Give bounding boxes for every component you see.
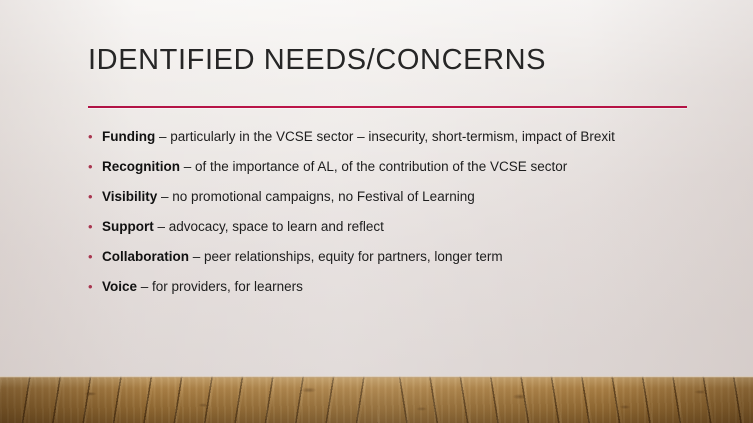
list-item-detail: – peer relationships, equity for partner… (189, 249, 503, 264)
slide-title: Identified needs/concerns (88, 42, 708, 78)
bullet-dot-icon: • (88, 156, 102, 178)
list-item-text: Visibility – no promotional campaigns, n… (102, 186, 475, 208)
list-item: • Support – advocacy, space to learn and… (88, 216, 708, 246)
list-item-text: Voice – for providers, for learners (102, 276, 303, 298)
list-item-term: Visibility (102, 189, 157, 204)
list-item-detail: – of the importance of AL, of the contri… (180, 159, 567, 174)
list-item: • Funding – particularly in the VCSE sec… (88, 126, 708, 156)
presentation-slide: Identified needs/concerns • Funding – pa… (0, 0, 753, 423)
wooden-floor-band (0, 376, 753, 423)
list-item-detail: – advocacy, space to learn and reflect (154, 219, 384, 234)
bullet-dot-icon: • (88, 216, 102, 238)
floor-top-edge (0, 376, 753, 378)
list-item: • Collaboration – peer relationships, eq… (88, 246, 708, 276)
list-item-detail: – particularly in the VCSE sector – inse… (155, 129, 615, 144)
list-item: • Voice – for providers, for learners (88, 276, 708, 306)
bullet-dot-icon: • (88, 126, 102, 148)
list-item-term: Support (102, 219, 154, 234)
bullet-dot-icon: • (88, 246, 102, 268)
list-item: • Visibility – no promotional campaigns,… (88, 186, 708, 216)
list-item-term: Funding (102, 129, 155, 144)
list-item: • Recognition – of the importance of AL,… (88, 156, 708, 186)
title-divider-rule (88, 106, 687, 108)
list-item-term: Collaboration (102, 249, 189, 264)
list-item-term: Recognition (102, 159, 180, 174)
list-item-text: Collaboration – peer relationships, equi… (102, 246, 503, 268)
bullet-dot-icon: • (88, 186, 102, 208)
floor-planks-left (0, 376, 377, 423)
bullet-list: • Funding – particularly in the VCSE sec… (88, 126, 708, 306)
list-item-detail: – for providers, for learners (137, 279, 303, 294)
list-item-text: Funding – particularly in the VCSE secto… (102, 126, 615, 148)
list-item-text: Support – advocacy, space to learn and r… (102, 216, 384, 238)
bullet-dot-icon: • (88, 276, 102, 298)
floor-planks-right (377, 376, 753, 423)
list-item-text: Recognition – of the importance of AL, o… (102, 156, 567, 178)
list-item-term: Voice (102, 279, 137, 294)
list-item-detail: – no promotional campaigns, no Festival … (157, 189, 474, 204)
